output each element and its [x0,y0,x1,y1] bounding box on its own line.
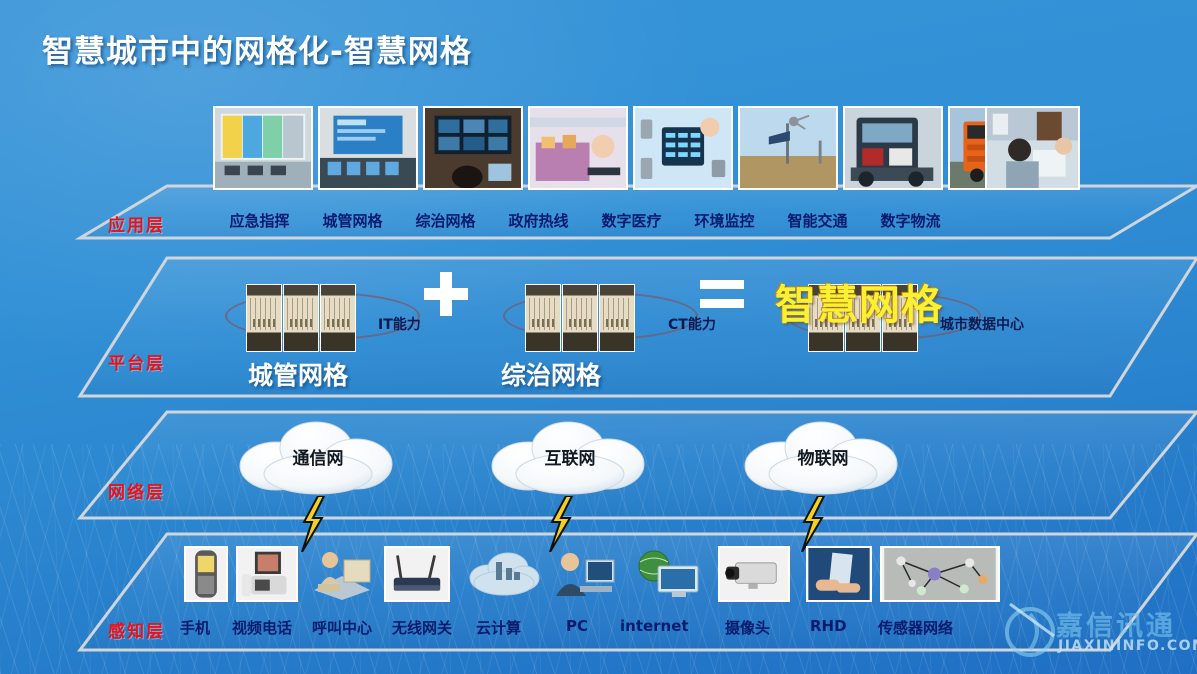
brand-logo: 嘉信讯通 JIAXININFO.COM [1004,600,1192,666]
sense-label-7: 摄像头 [725,617,770,638]
app-thumb-control-room[interactable] [213,106,313,190]
app-thumb-office-worker[interactable] [985,106,1080,190]
app-label-3: 政府热线 [492,210,585,231]
server-rack-group-1[interactable] [246,284,356,352]
layer-label-platform: 平台层 [108,349,165,374]
cloud-label: 物联网 [737,444,909,469]
layer-label-network: 网络层 [108,478,165,503]
wireless-router-icon[interactable] [384,546,450,602]
application-thumbnail-strip [213,106,1048,190]
server-rack [525,284,561,352]
lightning-bolt-icon [300,496,326,552]
plus-operator-icon [424,272,468,316]
lightning-bolt-icon [548,496,574,552]
app-label-1: 城管网格 [306,210,399,231]
capability-label-dc: 城市数据中心 [940,314,1024,334]
app-thumb-weather-station[interactable] [738,106,838,190]
app-thumb-video-wall[interactable] [423,106,523,190]
cloud-label: 通信网 [232,444,404,469]
pc-user-icon[interactable] [550,546,616,602]
app-thumb-mobile-health[interactable] [633,106,733,190]
server-rack [320,284,356,352]
globe-monitor-icon[interactable] [628,548,702,600]
mobile-phone-icon[interactable] [184,546,228,602]
app-thumb-operations-center[interactable] [318,106,418,190]
brand-name-en: JIAXININFO.COM [1058,638,1197,654]
smart-grid-result-label: 智慧网格 [775,271,943,331]
app-label-5: 环境监控 [678,210,771,231]
network-cloud-communication[interactable]: 通信网 [232,418,404,496]
layer-label-sensing: 感知层 [108,617,165,642]
server-rack [599,284,635,352]
call-center-agent-icon[interactable] [308,546,376,602]
capability-label-it: IT能力 [378,314,421,334]
fingerprint-scan-icon[interactable] [806,546,872,602]
server-rack [283,284,319,352]
sense-label-6: internet [620,617,689,635]
sense-label-9: 传感器网络 [878,617,953,638]
layer-label-application: 应用层 [108,211,165,236]
capability-label-ct: CT能力 [668,314,716,334]
sense-label-3: 无线网关 [392,617,452,638]
network-cloud-iot[interactable]: 物联网 [737,418,909,496]
sense-label-1: 视频电话 [232,617,292,638]
equals-operator-icon [700,280,744,310]
server-rack [562,284,598,352]
platform-group-name-1: 城管网格 [248,356,348,392]
app-label-2: 综治网格 [399,210,492,231]
server-rack [246,284,282,352]
app-label-6: 智能交通 [771,210,864,231]
lightning-bolt-icon [800,496,826,552]
sensor-network-icon[interactable] [880,546,1000,602]
cloud-computing-icon[interactable] [466,548,540,600]
security-camera-icon[interactable] [718,546,790,602]
network-cloud-internet[interactable]: 互联网 [484,418,656,496]
cloud-label: 互联网 [484,444,656,469]
sense-label-0: 手机 [180,617,210,638]
sense-label-8: RHD [810,617,847,635]
sense-label-4: 云计算 [476,617,521,638]
application-label-row: 应急指挥 城管网格 综治网格 政府热线 数字医疗 环境监控 智能交通 数字物流 [213,210,957,231]
app-label-7: 数字物流 [864,210,957,231]
app-label-0: 应急指挥 [213,210,306,231]
globe-swoosh-logo-icon [1004,602,1060,658]
platform-group-name-2: 综治网格 [501,356,601,392]
app-thumb-truck-front[interactable] [843,106,943,190]
sense-label-2: 呼叫中心 [312,617,372,638]
video-phone-icon[interactable] [236,546,298,602]
sense-label-5: PC [566,617,588,635]
server-rack-group-2[interactable] [525,284,635,352]
app-thumb-call-center[interactable] [528,106,628,190]
app-label-4: 数字医疗 [585,210,678,231]
